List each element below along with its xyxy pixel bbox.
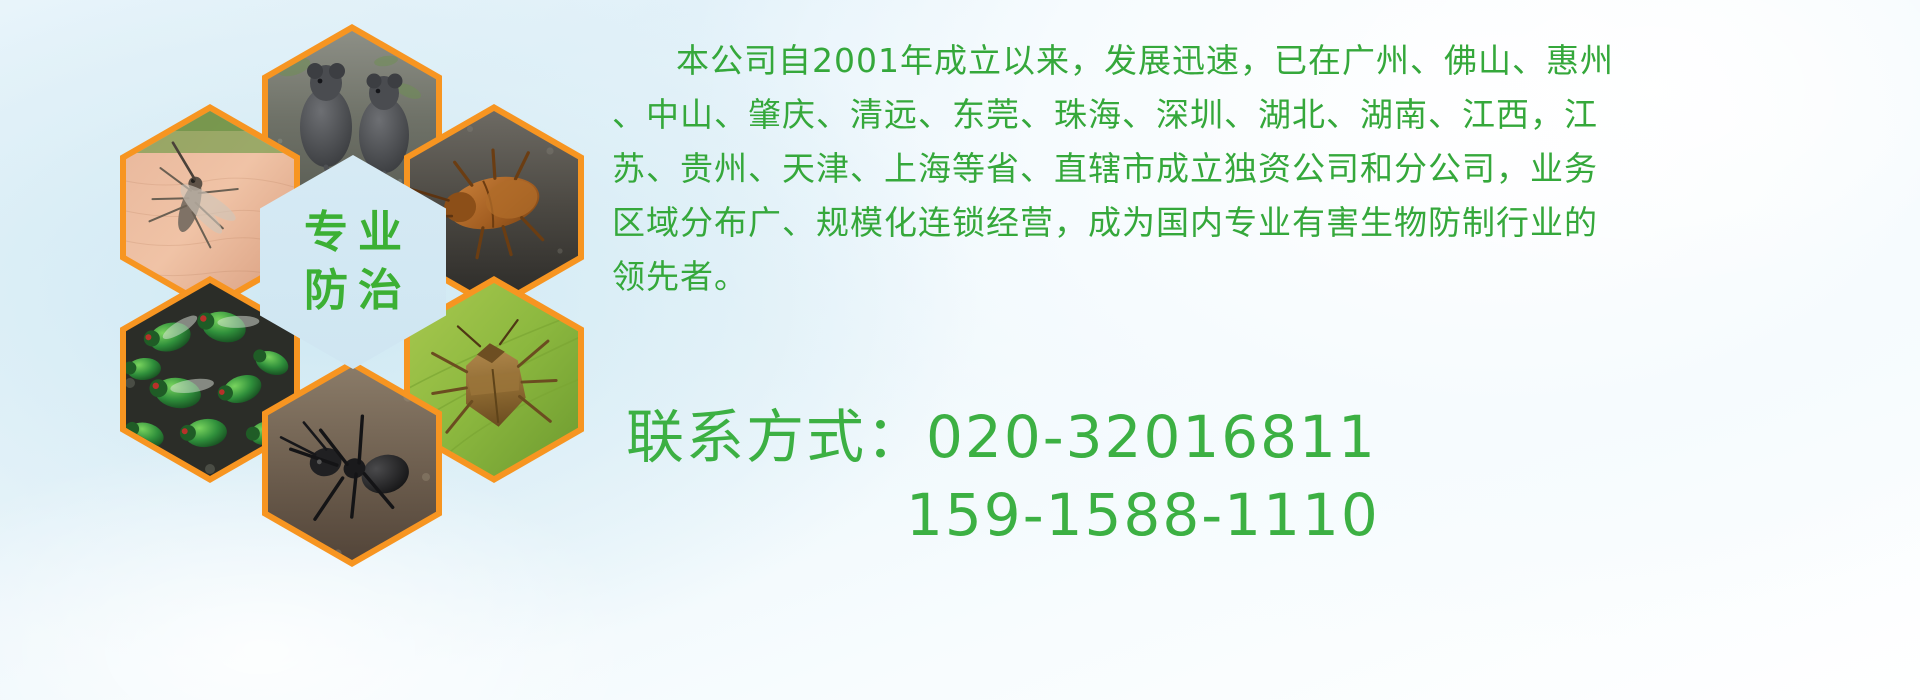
pest-control-banner: 专业 防治 本公司自2001年成立以来，发展迅速，已在广州、佛山、惠州 、中山、… bbox=[0, 0, 1920, 700]
phone-primary[interactable]: 020-32016811 bbox=[926, 403, 1377, 471]
honeycomb-photo-cluster: 专业 防治 bbox=[90, 10, 610, 590]
headline-line-1: 专业 bbox=[294, 211, 412, 255]
contact-label: 联系方式： bbox=[626, 403, 926, 471]
intro-line-1: 本公司自2001年成立以来，发展迅速，已在广州、佛山、惠州 bbox=[612, 34, 1912, 88]
headline-line-2: 防治 bbox=[294, 269, 412, 313]
black-ant-on-soil-icon bbox=[268, 367, 436, 560]
company-intro-paragraph: 本公司自2001年成立以来，发展迅速，已在广州、佛山、惠州 、中山、肇庆、清远、… bbox=[612, 34, 1912, 304]
intro-line-4: 区域分布广、规模化连锁经营，成为国内专业有害生物防制行业的 bbox=[612, 196, 1912, 250]
contact-primary-row[interactable]: 联系方式：020-32016811 bbox=[612, 398, 1912, 476]
contact-block: 联系方式：020-32016811 159-1588-1110 bbox=[612, 398, 1912, 554]
contact-secondary-row[interactable]: 159-1588-1110 bbox=[612, 476, 1912, 554]
intro-line-3: 苏、贵州、天津、上海等省、直辖市成立独资公司和分公司，业务 bbox=[612, 142, 1912, 196]
phone-secondary[interactable]: 159-1588-1110 bbox=[906, 481, 1380, 549]
intro-line-2: 、中山、肇庆、清远、东莞、珠海、深圳、湖北、湖南、江西，江 bbox=[612, 88, 1912, 142]
intro-line-5: 领先者。 bbox=[612, 250, 1912, 304]
ant-photo bbox=[268, 367, 436, 560]
